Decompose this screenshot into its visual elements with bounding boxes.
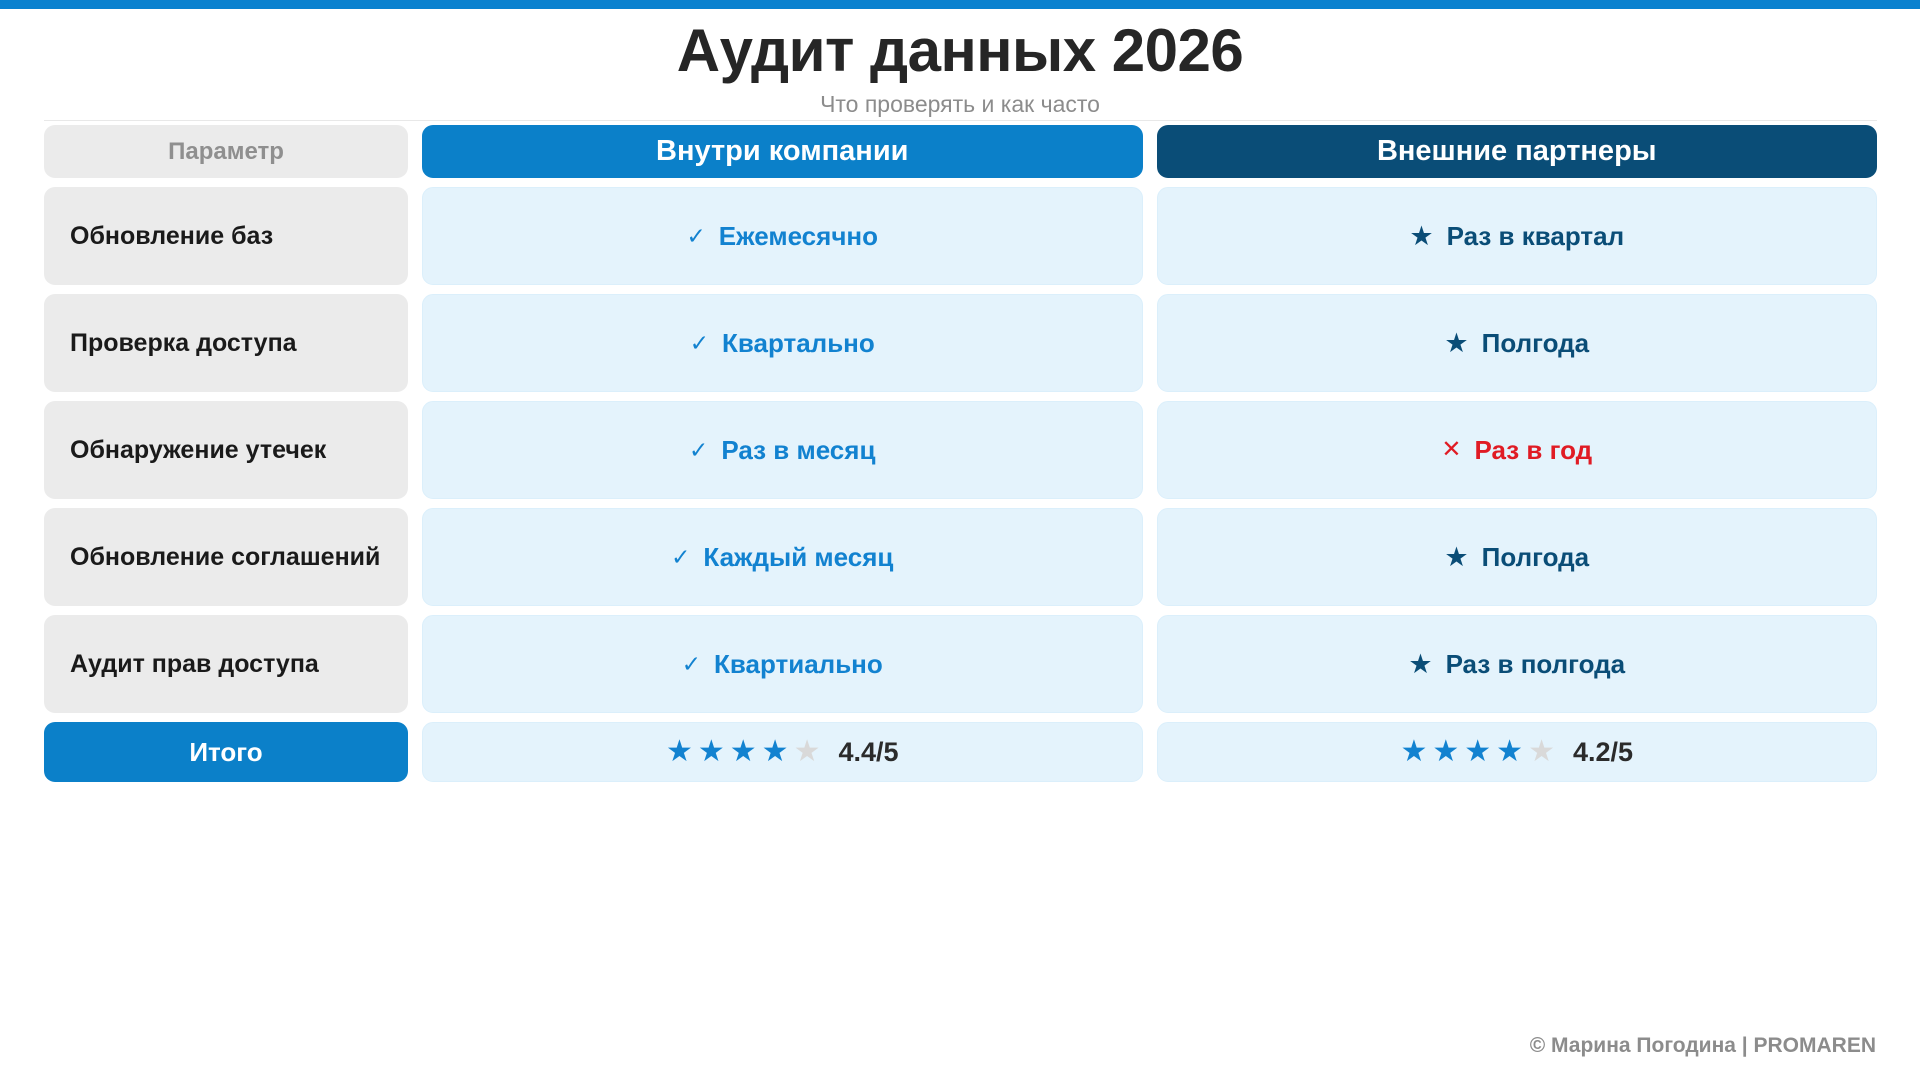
- value-internal: ✓ Квартиально: [682, 649, 883, 680]
- row-param-label: Обновление соглашений: [70, 543, 380, 572]
- star-icon: ★: [762, 737, 789, 767]
- star-icon: ★: [1464, 737, 1491, 767]
- value-external-text: Раз в квартал: [1447, 221, 1625, 252]
- row-external-cell: ★ Полгода: [1157, 508, 1878, 606]
- row-internal-cell: ✓ Раз в месяц: [422, 401, 1143, 499]
- star-icon: ★: [1408, 651, 1432, 678]
- row-external-cell: ★ Полгода: [1157, 294, 1878, 392]
- value-external: ★ Полгода: [1444, 328, 1589, 359]
- row-external-cell: ★ Раз в полгода: [1157, 615, 1878, 713]
- cross-icon: ✕: [1441, 438, 1461, 462]
- star-icon: ★: [1409, 223, 1433, 250]
- table-row: Обновление баз ✓ Ежемесячно ★ Раз в квар…: [44, 187, 1877, 285]
- row-external-cell: ✕ Раз в год: [1157, 401, 1878, 499]
- rating-internal-stars: ★★★★★: [666, 737, 821, 767]
- row-internal-cell: ✓ Квартально: [422, 294, 1143, 392]
- star-icon: ★: [794, 737, 821, 767]
- value-external-text: Раз в полгода: [1446, 649, 1626, 680]
- star-icon: ★: [698, 737, 725, 767]
- value-internal-text: Квартально: [722, 328, 875, 359]
- table-total-row: Итого ★★★★★ 4.4/5 ★★★★★ 4.2/5: [44, 722, 1877, 782]
- row-internal-cell: ✓ Каждый месяц: [422, 508, 1143, 606]
- value-internal: ✓ Раз в месяц: [689, 435, 875, 466]
- row-param-cell: Аудит прав доступа: [44, 615, 408, 713]
- row-param-cell: Обнаружение утечек: [44, 401, 408, 499]
- star-icon: ★: [1496, 737, 1523, 767]
- value-external: ★ Раз в квартал: [1409, 221, 1624, 252]
- star-icon: ★: [1444, 544, 1468, 571]
- value-external-text: Полгода: [1482, 328, 1589, 359]
- value-external-text: Раз в год: [1474, 435, 1592, 466]
- value-internal: ✓ Ежемесячно: [687, 221, 879, 252]
- row-external-cell: ★ Раз в квартал: [1157, 187, 1878, 285]
- star-icon: ★: [1528, 737, 1555, 767]
- value-internal-text: Каждый месяц: [703, 542, 893, 573]
- row-param-label: Аудит прав доступа: [70, 650, 319, 679]
- row-internal-cell: ✓ Ежемесячно: [422, 187, 1143, 285]
- star-icon: ★: [666, 737, 693, 767]
- check-icon: ✓: [690, 332, 709, 355]
- total-external-cell: ★★★★★ 4.2/5: [1157, 722, 1878, 782]
- table-row: Аудит прав доступа ✓ Квартиально ★ Раз в…: [44, 615, 1877, 713]
- footer-credit: © Марина Погодина | PROMAREN: [1530, 1034, 1876, 1058]
- total-label-cell: Итого: [44, 722, 408, 782]
- row-param-label: Обнаружение утечек: [70, 436, 326, 465]
- star-icon: ★: [1444, 330, 1468, 357]
- value-internal: ✓ Каждый месяц: [671, 542, 893, 573]
- value-external-text: Полгода: [1482, 542, 1589, 573]
- column-header-param: Параметр: [44, 125, 408, 178]
- page-title: Аудит данных 2026: [0, 16, 1920, 85]
- value-external: ★ Раз в полгода: [1408, 649, 1625, 680]
- table-row: Обновление соглашений ✓ Каждый месяц ★ П…: [44, 508, 1877, 606]
- rating-external-stars: ★★★★★: [1400, 737, 1555, 767]
- check-icon: ✓: [671, 546, 690, 569]
- check-icon: ✓: [687, 225, 706, 248]
- table-header-row: Параметр Внутри компании Внешние партнер…: [44, 125, 1877, 178]
- row-param-label: Обновление баз: [70, 222, 273, 251]
- star-icon: ★: [1432, 737, 1459, 767]
- column-header-external: Внешние партнеры: [1157, 125, 1878, 178]
- page-subtitle: Что проверять и как часто: [0, 91, 1920, 118]
- star-icon: ★: [730, 737, 757, 767]
- row-internal-cell: ✓ Квартиально: [422, 615, 1143, 713]
- table-row: Обнаружение утечек ✓ Раз в месяц ✕ Раз в…: [44, 401, 1877, 499]
- value-internal-text: Раз в месяц: [721, 435, 875, 466]
- column-header-external-label: Внешние партнеры: [1377, 135, 1657, 168]
- value-internal-text: Квартиально: [714, 649, 883, 680]
- row-param-cell: Обновление баз: [44, 187, 408, 285]
- value-external: ★ Полгода: [1444, 542, 1589, 573]
- table-row: Проверка доступа ✓ Квартально ★ Полгода: [44, 294, 1877, 392]
- column-header-param-label: Параметр: [168, 138, 284, 166]
- check-icon: ✓: [689, 439, 708, 462]
- rating-internal: ★★★★★ 4.4/5: [666, 737, 899, 768]
- comparison-table: Параметр Внутри компании Внешние партнер…: [44, 125, 1877, 791]
- column-header-internal: Внутри компании: [422, 125, 1143, 178]
- rating-internal-score: 4.4/5: [838, 737, 898, 768]
- total-internal-cell: ★★★★★ 4.4/5: [422, 722, 1143, 782]
- row-param-cell: Проверка доступа: [44, 294, 408, 392]
- top-accent-bar: [0, 0, 1920, 9]
- value-external: ✕ Раз в год: [1441, 435, 1592, 466]
- check-icon: ✓: [682, 653, 701, 676]
- row-param-cell: Обновление соглашений: [44, 508, 408, 606]
- value-internal: ✓ Квартально: [690, 328, 875, 359]
- rating-external-score: 4.2/5: [1573, 737, 1633, 768]
- value-internal-text: Ежемесячно: [719, 221, 878, 252]
- table-top-divider: [44, 120, 1877, 121]
- row-param-label: Проверка доступа: [70, 329, 297, 358]
- total-label: Итого: [189, 737, 262, 768]
- star-icon: ★: [1400, 737, 1427, 767]
- column-header-internal-label: Внутри компании: [656, 135, 908, 168]
- rating-external: ★★★★★ 4.2/5: [1400, 737, 1633, 768]
